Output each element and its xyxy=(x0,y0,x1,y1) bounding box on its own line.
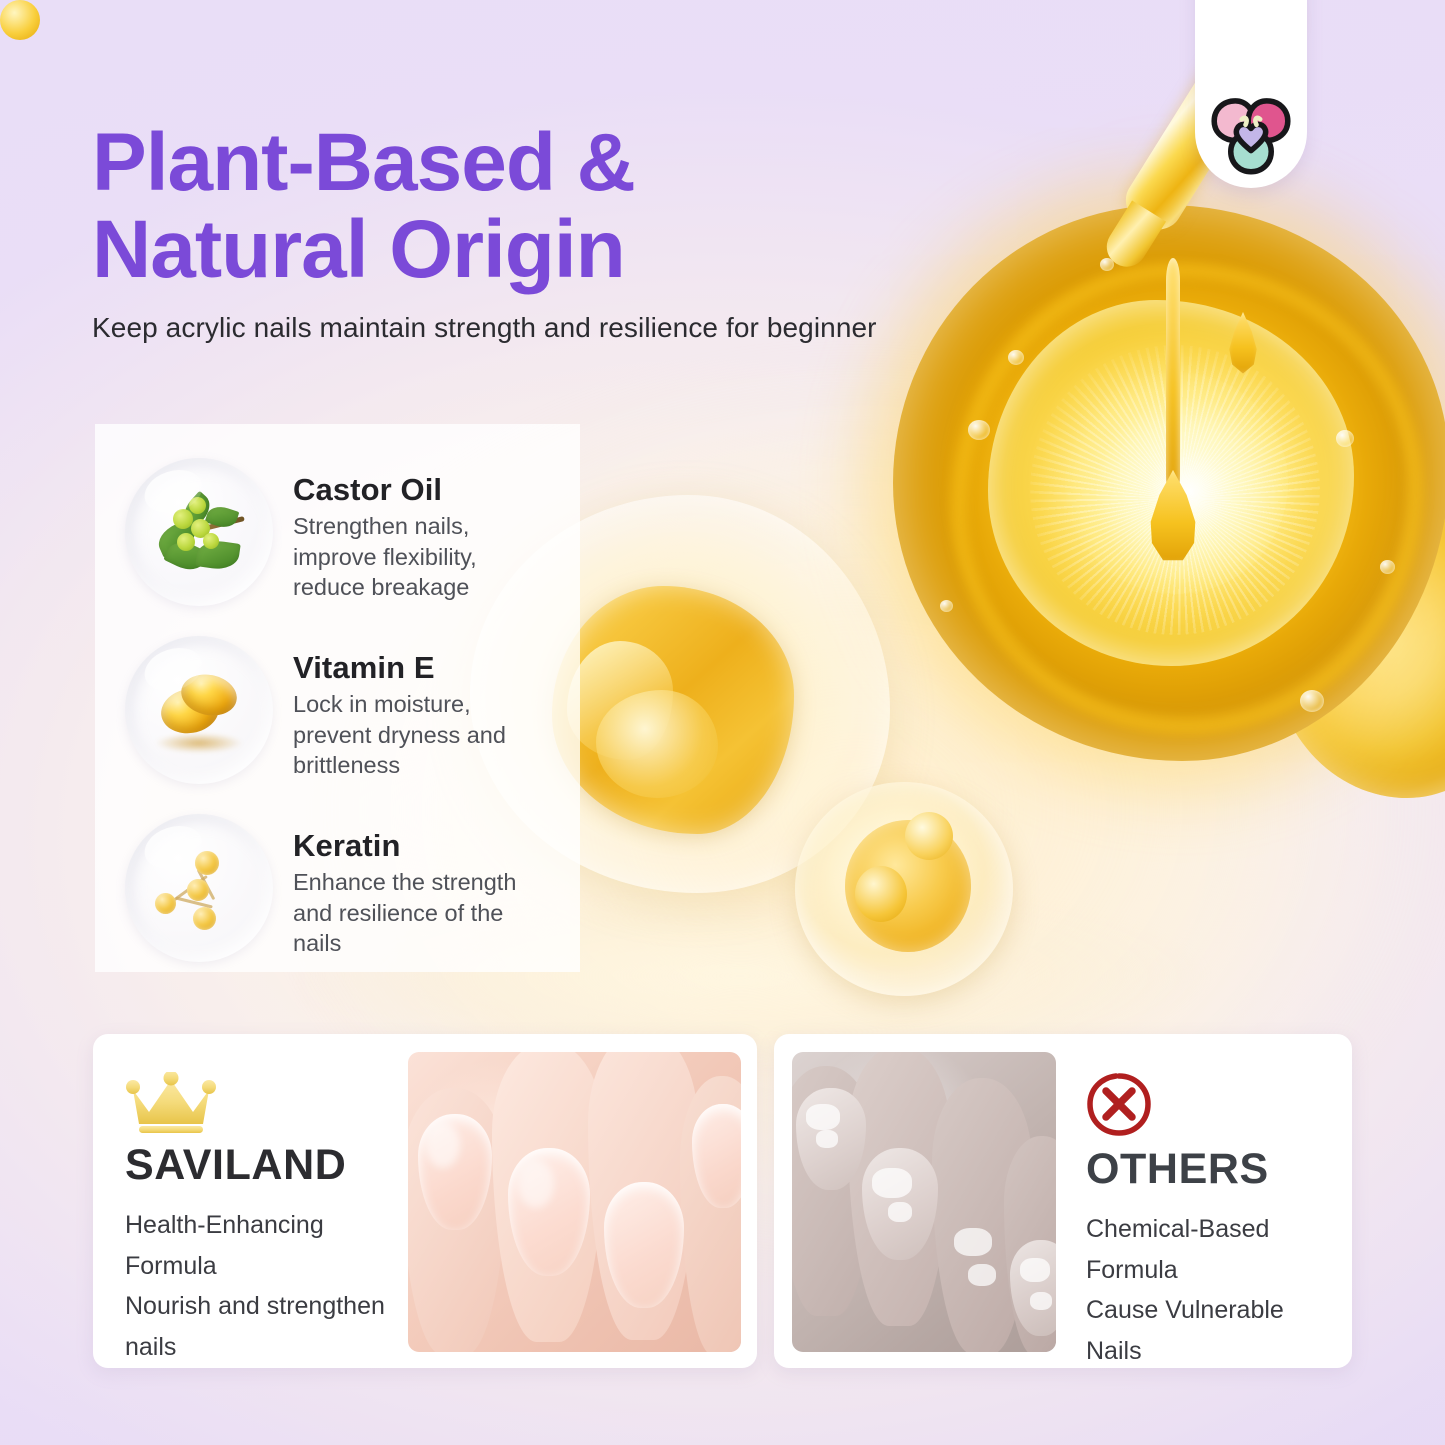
others-line-2: Cause Vulnerable Nails xyxy=(1086,1290,1322,1371)
keratin-molecule-icon xyxy=(125,814,273,962)
damaged-nails-photo xyxy=(792,1052,1056,1352)
ingredient-name: Castor Oil xyxy=(293,472,554,507)
page-title-line-1: Plant-Based & xyxy=(92,122,912,204)
saviland-title: SAVILAND xyxy=(125,1144,408,1187)
comparison-panel-saviland: SAVILAND Health-Enhancing Formula Nouris… xyxy=(93,1034,757,1368)
red-x-circle-icon xyxy=(1086,1072,1152,1138)
crown-icon xyxy=(125,1072,217,1134)
oil-lobe xyxy=(596,690,718,798)
product-infographic: Plant-Based & Natural Origin Keep acryli… xyxy=(0,0,1445,1445)
ingredient-name: Vitamin E xyxy=(293,650,554,685)
saviland-line-1: Health-Enhancing Formula xyxy=(125,1205,408,1286)
saviland-text-block: SAVILAND Health-Enhancing Formula Nouris… xyxy=(93,1034,408,1368)
page-title-line-2: Natural Origin xyxy=(92,204,912,296)
ingredient-desc: Strengthen nails, improve flexibility, r… xyxy=(293,511,554,603)
others-text-block: OTHERS Chemical-Based Formula Cause Vuln… xyxy=(1056,1034,1352,1368)
comparison-panel-others: OTHERS Chemical-Based Formula Cause Vuln… xyxy=(774,1034,1352,1368)
ingredient-desc: Enhance the strength and resilience of t… xyxy=(293,867,554,959)
page-subtitle: Keep acrylic nails maintain strength and… xyxy=(92,312,912,344)
ingredients-card: Castor Oil Strengthen nails, improve fle… xyxy=(95,424,580,972)
vitamin-e-capsule-icon xyxy=(125,636,273,784)
ingredients-list: Castor Oil Strengthen nails, improve fle… xyxy=(95,424,580,972)
ingredient-name: Keratin xyxy=(293,828,554,863)
ingredient-item: Castor Oil Strengthen nails, improve fle… xyxy=(95,458,580,636)
oil-stream xyxy=(1166,258,1180,498)
castor-plant-icon xyxy=(125,458,273,606)
others-line-1: Chemical-Based Formula xyxy=(1086,1209,1322,1290)
oil-bubble-b xyxy=(905,812,953,860)
oil-droplet-junction xyxy=(0,0,40,40)
oil-bubble-a xyxy=(855,866,907,922)
saviland-line-2: Nourish and strengthen nails xyxy=(125,1286,408,1367)
ingredient-item: Keratin Enhance the strength and resilie… xyxy=(95,814,580,992)
healthy-nails-photo xyxy=(408,1052,741,1352)
flower-heart-logo xyxy=(1205,88,1297,180)
others-title: OTHERS xyxy=(1086,1148,1322,1191)
ingredient-desc: Lock in moisture, prevent dryness and br… xyxy=(293,689,554,781)
ingredient-item: Vitamin E Lock in moisture, prevent dryn… xyxy=(95,636,580,814)
headline-block: Plant-Based & Natural Origin Keep acryli… xyxy=(92,122,912,344)
